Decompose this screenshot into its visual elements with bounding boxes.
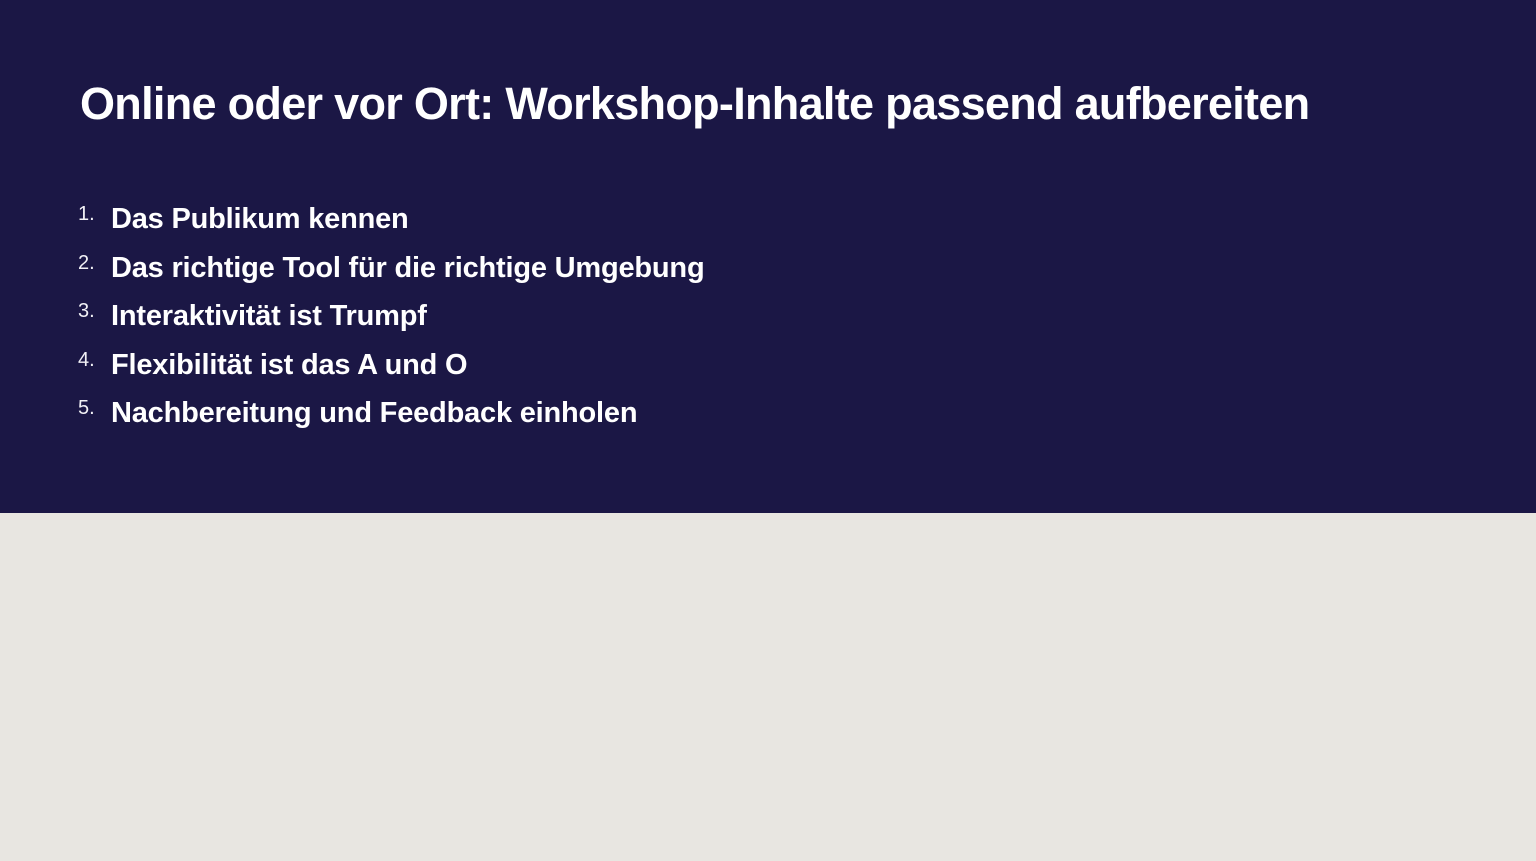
list-item-label: Das Publikum kennen	[111, 205, 409, 234]
list-item-number: 4.	[78, 350, 111, 370]
page-title: Online oder vor Ort: Workshop-Inhalte pa…	[80, 78, 1309, 130]
list-item-label: Interaktivität ist Trumpf	[111, 302, 427, 331]
list-item-label: Nachbereitung und Feedback einholen	[111, 399, 637, 428]
list-item-label: Das richtige Tool für die richtige Umgeb…	[111, 254, 704, 283]
slide-bottom-panel	[0, 513, 1536, 861]
list-item-number: 2.	[78, 253, 111, 273]
slide-canvas: Online oder vor Ort: Workshop-Inhalte pa…	[0, 0, 1536, 861]
slide-top-panel: Online oder vor Ort: Workshop-Inhalte pa…	[0, 0, 1536, 513]
list-item-number: 1.	[78, 204, 111, 224]
list-item-label: Flexibilität ist das A und O	[111, 351, 467, 380]
agenda-list: 1. Das Publikum kennen 2. Das richtige T…	[78, 205, 1378, 448]
list-item-number: 3.	[78, 301, 111, 321]
list-item: 3. Interaktivität ist Trumpf	[78, 302, 1378, 351]
list-item: 2. Das richtige Tool für die richtige Um…	[78, 254, 1378, 303]
list-item: 5. Nachbereitung und Feedback einholen	[78, 399, 1378, 448]
list-item: 4. Flexibilität ist das A und O	[78, 351, 1378, 400]
list-item-number: 5.	[78, 398, 111, 418]
list-item: 1. Das Publikum kennen	[78, 205, 1378, 254]
